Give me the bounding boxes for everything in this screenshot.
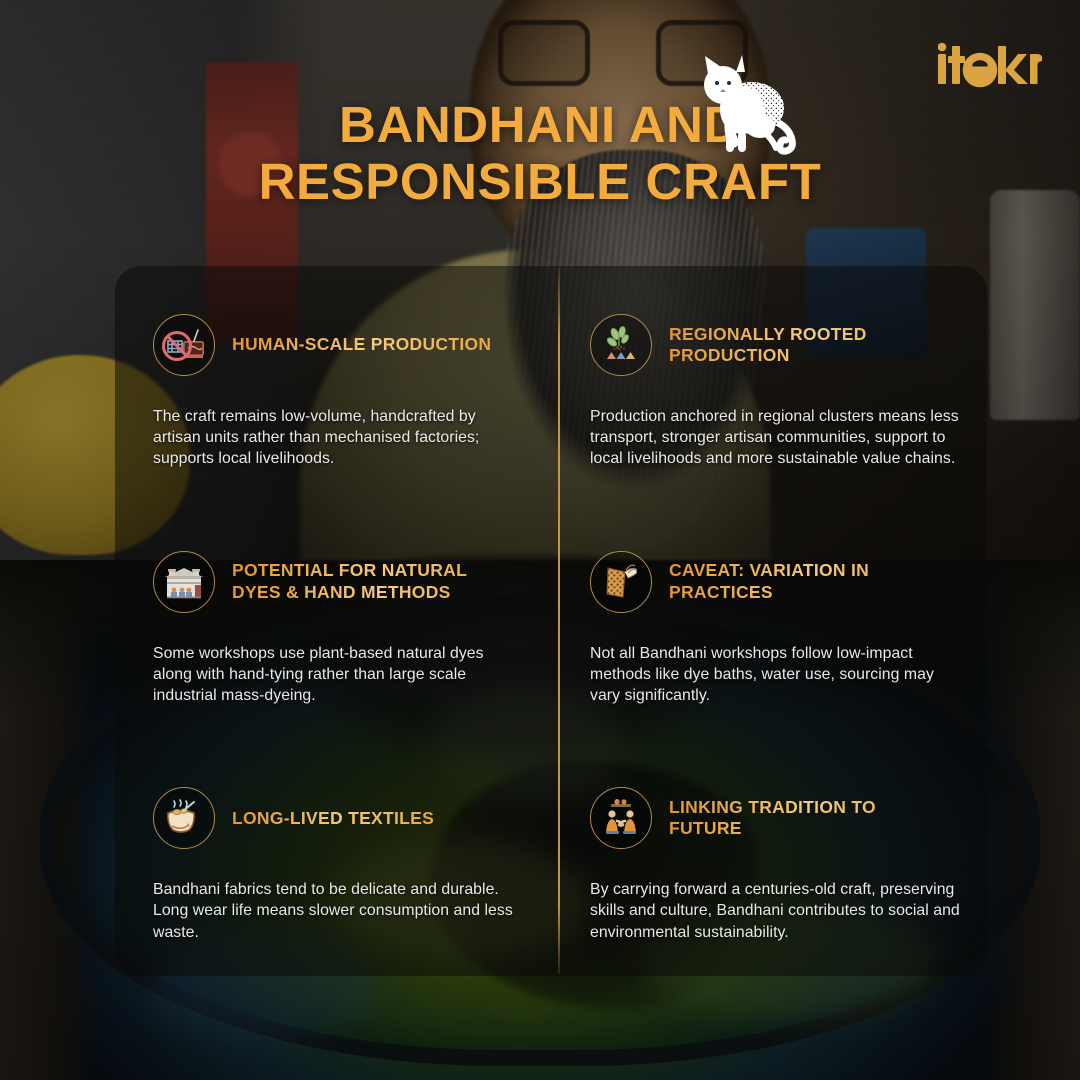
no-factory-machine-icon [153,314,215,376]
feature-title: HUMAN-SCALE PRODUCTION [232,334,491,355]
feature-item-human-scale-production: HUMAN-SCALE PRODUCTION The craft remains… [115,266,558,503]
plants-and-regional-mounds-icon [590,314,652,376]
feature-item-caveat-variation-in-practices: CAVEAT: VARIATION IN PRACTICES Not all B… [558,503,987,740]
feature-title: LINKING TRADITION TO FUTURE [669,797,931,840]
feature-header: REGIONALLY ROOTED PRODUCTION [590,314,967,376]
feature-grid: HUMAN-SCALE PRODUCTION The craft remains… [115,266,987,976]
feature-body: Production anchored in regional clusters… [590,406,967,469]
feature-body: Not all Bandhani workshops follow low-im… [590,643,967,706]
feature-item-natural-dyes-hand-methods: POTENTIAL FOR NATURAL DYES & HAND METHOD… [115,503,558,740]
feature-body: By carrying forward a centuries-old craf… [590,879,967,942]
steaming-dye-pot-icon [153,787,215,849]
feature-body: The craft remains low-volume, handcrafte… [153,406,524,469]
infographic-canvas: BANDHANI AND RESPONSIBLE CRAFT [0,0,1080,1080]
feature-item-regionally-rooted-production: REGIONALLY ROOTED PRODUCTION Production … [558,266,987,503]
feature-item-linking-tradition-to-future: LINKING TRADITION TO FUTURE By carrying … [558,739,987,976]
hand-holding-bandhani-fabric-icon [590,551,652,613]
two-artisans-seated-icon [590,787,652,849]
feature-body: Bandhani fabrics tend to be delicate and… [153,879,524,942]
feature-title: LONG-LIVED TEXTILES [232,808,434,829]
feature-item-long-lived-textiles: LONG-LIVED TEXTILES Bandhani fabrics ten… [115,739,558,976]
feature-header: CAVEAT: VARIATION IN PRACTICES [590,551,967,613]
feature-header: LINKING TRADITION TO FUTURE [590,787,967,849]
feature-header: POTENTIAL FOR NATURAL DYES & HAND METHOD… [153,551,524,613]
brand-logo[interactable] [938,42,1042,88]
feature-body: Some workshops use plant-based natural d… [153,643,524,706]
feature-title: REGIONALLY ROOTED PRODUCTION [669,324,931,367]
cat-illustration-icon [690,52,808,157]
feature-title: CAVEAT: VARIATION IN PRACTICES [669,560,931,603]
feature-header: LONG-LIVED TEXTILES [153,787,524,849]
feature-title: POTENTIAL FOR NATURAL DYES & HAND METHOD… [232,560,500,603]
workshop-building-icon [153,551,215,613]
feature-header: HUMAN-SCALE PRODUCTION [153,314,524,376]
itokri-wordmark-icon [938,42,1042,88]
